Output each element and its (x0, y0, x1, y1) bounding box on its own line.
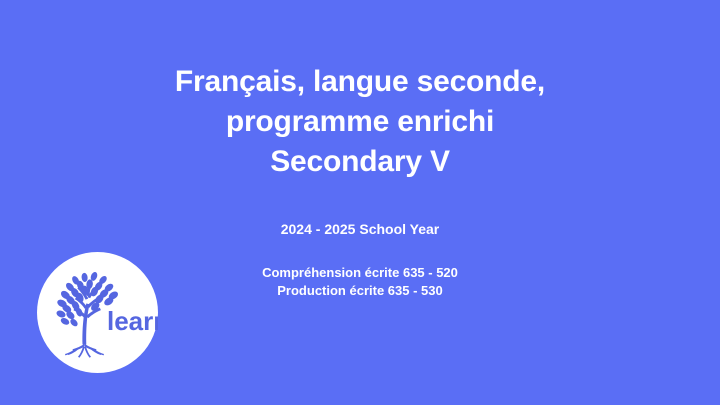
title-line-2: programme enrichi (110, 102, 610, 142)
competency-line-comprehension: Compréhension écrite 635 - 520 (110, 264, 610, 282)
title-line-3: Secondary V (110, 142, 610, 182)
title-slide: Français, langue seconde, programme enri… (0, 0, 720, 405)
school-year-label: 2024 - 2025 School Year (110, 220, 610, 238)
competency-list: Compréhension écrite 635 - 520 Productio… (110, 264, 610, 300)
logo-wordmark: learn (107, 306, 158, 336)
learn-logo: learn (37, 252, 158, 373)
page-title: Français, langue seconde, programme enri… (110, 62, 610, 182)
title-line-1: Français, langue seconde, (110, 62, 610, 102)
competency-line-production: Production écrite 635 - 530 (110, 282, 610, 300)
